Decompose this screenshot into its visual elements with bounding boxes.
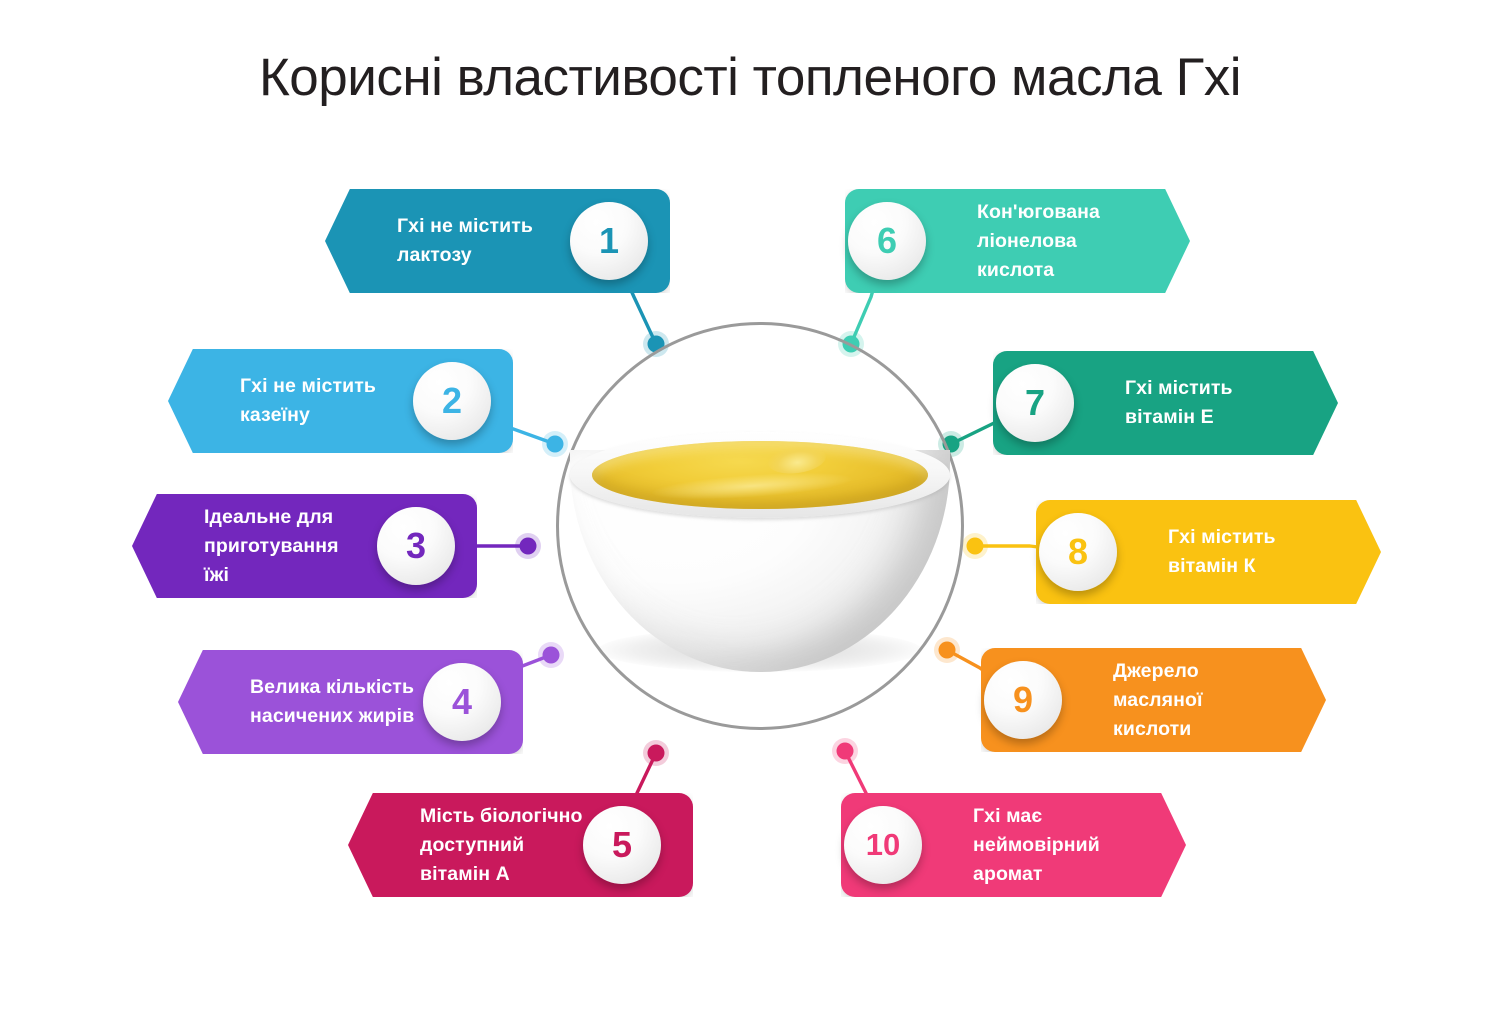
connector-dot-glow-4 <box>538 642 564 668</box>
benefit-label-8: Гхі містить вітамін К <box>1168 523 1276 581</box>
bowl-of-ghee <box>570 432 950 692</box>
benefit-label-1: Гхі не містить лактозу <box>397 212 533 270</box>
connector-dot-glow-5 <box>643 740 669 766</box>
ghee-peak <box>766 443 827 477</box>
benefit-label-4: Велика кількість насичених жирів <box>250 673 414 731</box>
benefit-number-7: 7 <box>996 364 1074 442</box>
infographic-canvas: Корисні властивості топленого масла Гхі … <box>0 0 1500 1024</box>
benefit-number-8: 8 <box>1039 513 1117 591</box>
connector-dot-5 <box>648 745 665 762</box>
connector-dot-10 <box>837 743 854 760</box>
connector-dot-8 <box>967 538 984 555</box>
benefit-label-3: Ідеальне для приготування їжі <box>204 503 339 590</box>
page-title: Корисні властивості топленого масла Гхі <box>0 47 1500 108</box>
benefit-number-3: 3 <box>377 507 455 585</box>
connector-dot-2 <box>547 436 564 453</box>
connector-dot-glow-10 <box>832 738 858 764</box>
benefit-label-7: Гхі містить вітамін Е <box>1125 374 1233 432</box>
ghee-swirl <box>651 468 852 504</box>
benefit-number-1: 1 <box>570 202 648 280</box>
benefit-number-2: 2 <box>413 362 491 440</box>
connector-dot-4 <box>543 647 560 664</box>
benefit-label-10: Гхі має неймовірний аромат <box>973 802 1100 889</box>
benefit-number-9: 9 <box>984 661 1062 739</box>
benefit-number-4: 4 <box>423 663 501 741</box>
benefit-label-2: Гхі не містить казеїну <box>240 372 376 430</box>
benefit-label-5: Мість біологічно доступний вітамін А <box>420 802 583 889</box>
connector-dot-3 <box>520 538 537 555</box>
benefit-number-10: 10 <box>844 806 922 884</box>
connector-dot-glow-8 <box>962 533 988 559</box>
connector-dot-glow-3 <box>515 533 541 559</box>
benefit-number-5: 5 <box>583 806 661 884</box>
ghee-surface <box>592 441 928 509</box>
benefit-number-6: 6 <box>848 202 926 280</box>
connector-dot-glow-2 <box>542 431 568 457</box>
benefit-label-9: Джерело масляної кислоти <box>1113 657 1203 744</box>
benefit-label-6: Кон'югована ліонелова кислота <box>977 198 1100 285</box>
